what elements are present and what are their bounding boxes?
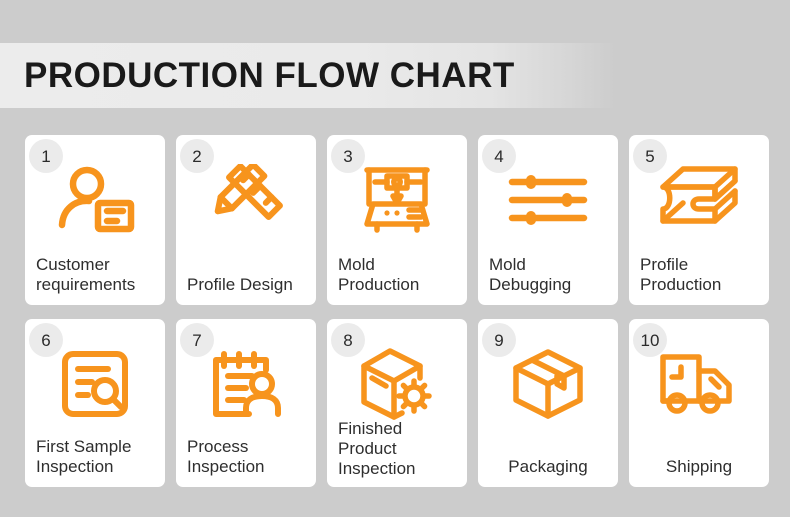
milling-machine-icon (327, 157, 467, 243)
title-banner: PRODUCTION FLOW CHART (0, 43, 790, 108)
pencil-and-ruler-icon (176, 157, 316, 243)
step-label: Packaging (484, 457, 612, 477)
step-card-8[interactable]: 8 Finished Product Inspection (327, 319, 467, 487)
document-search-icon (25, 341, 165, 427)
step-label: Mold Production (338, 255, 459, 295)
step-label: Process Inspection (187, 437, 308, 477)
clipboard-person-icon (176, 341, 316, 427)
step-card-3[interactable]: 3 (327, 135, 467, 305)
step-card-6[interactable]: 6 First Sample Inspection (25, 319, 165, 487)
step-card-7[interactable]: 7 Process Inspection (176, 319, 316, 487)
step-label: Customer requirements (36, 255, 157, 295)
step-card-4[interactable]: 4 Mold Debugging (478, 135, 618, 305)
steps-row-1: 1 Customer requirements 2 (25, 135, 790, 305)
packing-box-icon (478, 341, 618, 427)
step-label: Profile Design (187, 275, 308, 295)
step-label: Shipping (635, 457, 763, 477)
steps-grid: 1 Customer requirements 2 (25, 135, 790, 487)
step-card-2[interactable]: 2 Profile (176, 135, 316, 305)
person-with-message-icon (25, 157, 165, 243)
box-gear-icon (327, 341, 467, 427)
step-card-1[interactable]: 1 Customer requirements (25, 135, 165, 305)
step-label: First Sample Inspection (36, 437, 157, 477)
delivery-truck-clock-icon (629, 341, 769, 427)
step-label: Finished Product Inspection (338, 419, 459, 479)
production-flow-chart-page: PRODUCTION FLOW CHART 1 Customer require… (0, 0, 790, 517)
step-label: Mold Debugging (489, 255, 610, 295)
step-label: Profile Production (640, 255, 761, 295)
i-beam-profile-icon (629, 157, 769, 243)
page-title: PRODUCTION FLOW CHART (24, 58, 515, 93)
sliders-icon (478, 157, 618, 243)
step-card-9[interactable]: 9 Packaging (478, 319, 618, 487)
step-card-5[interactable]: 5 Profile Production (629, 135, 769, 305)
step-card-10[interactable]: 10 Shipping (629, 319, 769, 487)
steps-row-2: 6 First Sample Inspection 7 (25, 319, 790, 487)
